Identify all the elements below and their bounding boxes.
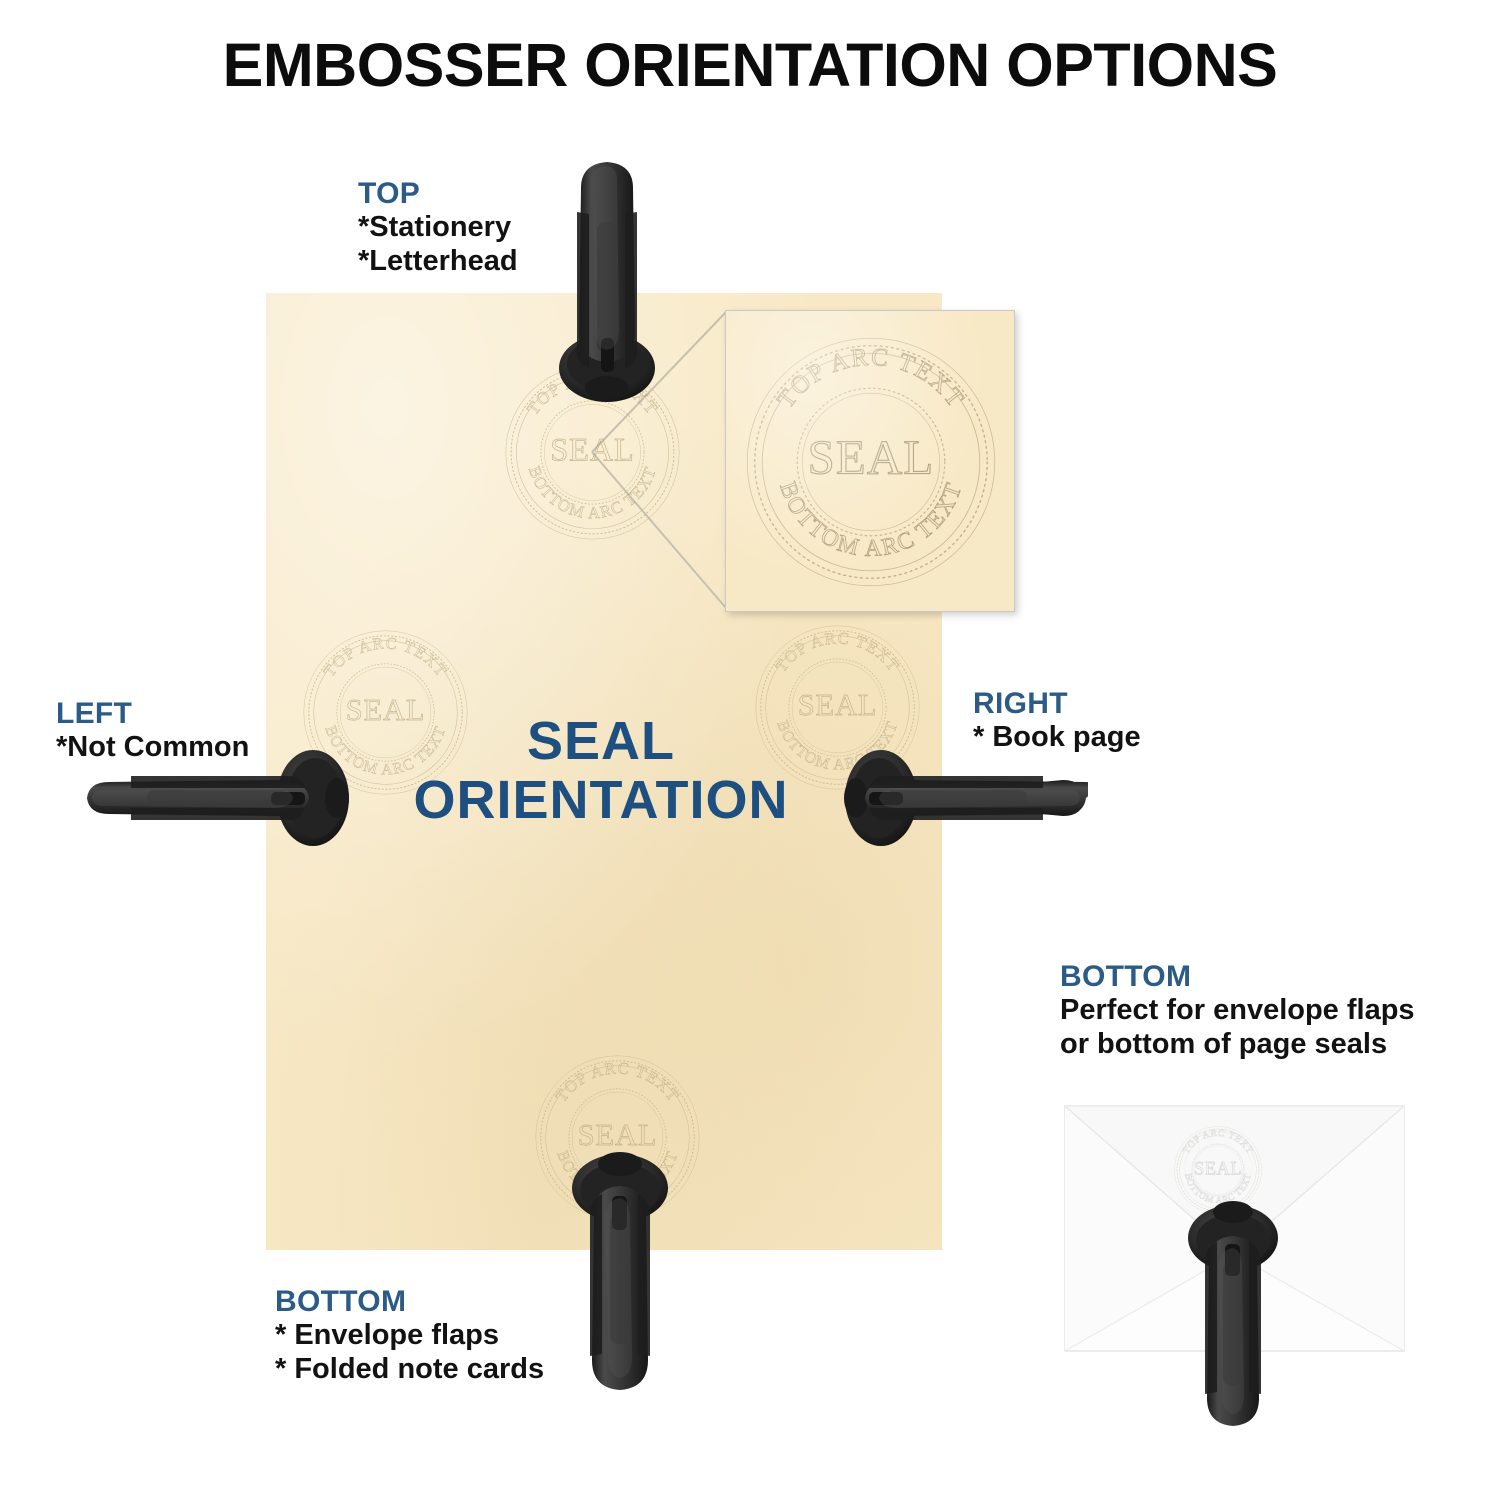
label-top-line-1: *Stationery <box>358 210 518 244</box>
svg-text:TOP ARC TEXT: TOP ARC TEXT <box>1181 1128 1255 1156</box>
svg-text:TOP ARC TEXT: TOP ARC TEXT <box>551 1058 683 1105</box>
label-top: TOP *Stationery *Letterhead <box>358 178 518 278</box>
svg-text:SEAL: SEAL <box>550 432 634 468</box>
svg-text:TOP ARC TEXT: TOP ARC TEXT <box>771 628 903 675</box>
label-bottom-right-heading: BOTTOM <box>1060 961 1415 993</box>
embosser-tool-top <box>545 152 670 402</box>
infographic-canvas: EMBOSSER ORIENTATION OPTIONS <box>0 0 1500 1500</box>
svg-text:BOTTOM ARC TEXT: BOTTOM ARC TEXT <box>525 464 660 523</box>
label-bottom-right-line-2: or bottom of page seals <box>1060 1027 1415 1061</box>
page-title: EMBOSSER ORIENTATION OPTIONS <box>0 30 1500 100</box>
label-bottom-right-line-1: Perfect for envelope flaps <box>1060 993 1415 1027</box>
label-right: RIGHT * Book page <box>973 688 1141 754</box>
label-bottom-left-line-1: * Envelope flaps <box>275 1318 544 1352</box>
label-top-line-2: *Letterhead <box>358 244 518 278</box>
svg-text:SEAL: SEAL <box>578 1118 658 1152</box>
label-bottom-left: BOTTOM * Envelope flaps * Folded note ca… <box>275 1286 544 1386</box>
label-left-heading: LEFT <box>56 698 249 730</box>
svg-text:SEAL: SEAL <box>808 430 935 484</box>
detail-callout-box: TOP ARC TEXT BOTTOM ARC TEXT SEAL <box>725 310 1015 612</box>
embosser-tool-bottom <box>560 1150 680 1395</box>
label-left: LEFT *Not Common <box>56 698 249 764</box>
center-line-2: ORIENTATION <box>366 771 836 830</box>
label-bottom-right: BOTTOM Perfect for envelope flaps or bot… <box>1060 961 1415 1061</box>
svg-text:BOTTOM ARC TEXT: BOTTOM ARC TEXT <box>774 478 968 562</box>
label-right-heading: RIGHT <box>973 688 1141 720</box>
svg-text:TOP ARC TEXT: TOP ARC TEXT <box>319 633 451 680</box>
center-line-1: SEAL <box>527 711 675 771</box>
label-top-heading: TOP <box>358 178 518 210</box>
label-bottom-left-heading: BOTTOM <box>275 1286 544 1318</box>
label-bottom-left-line-2: * Folded note cards <box>275 1352 544 1386</box>
label-right-line-1: * Book page <box>973 720 1141 754</box>
svg-text:TOP ARC TEXT: TOP ARC TEXT <box>772 344 969 414</box>
seal-impression-magnified: TOP ARC TEXT BOTTOM ARC TEXT SEAL <box>746 337 996 587</box>
label-left-line-1: *Not Common <box>56 730 249 764</box>
svg-text:SEAL: SEAL <box>1194 1158 1242 1178</box>
embosser-tool-right <box>843 748 1088 848</box>
embosser-tool-envelope <box>1178 1196 1288 1431</box>
center-seal-orientation-text: SEAL ORIENTATION <box>366 712 836 831</box>
